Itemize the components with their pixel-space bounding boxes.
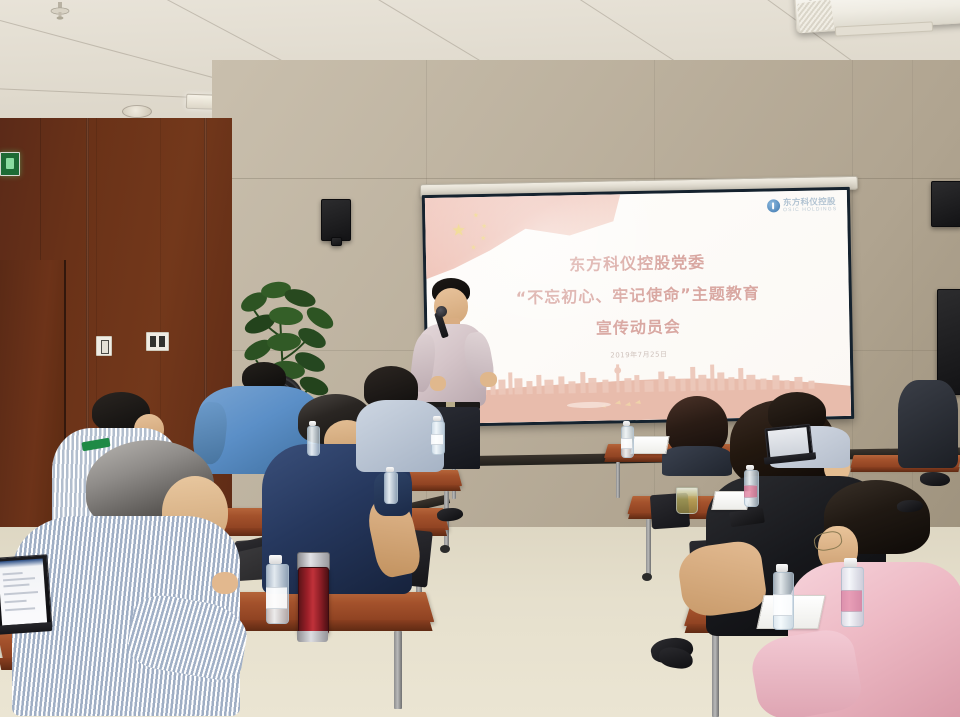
sprinkler-icon [48, 2, 72, 27]
exit-sign-icon [0, 152, 20, 176]
logo-mark-icon [767, 200, 780, 213]
flag-star: ★ [451, 223, 466, 239]
company-logo: 东方科仪控股 OSIC HOLDINGS [767, 198, 837, 213]
conference-room-photo: ★ ★ ★ ★ ★ 东方科仪控股 OSIC HOLDINGS 东方科仪控股党委 … [0, 0, 960, 717]
laptop-display [0, 559, 47, 626]
red-thermos [296, 552, 330, 642]
speaker-bracket [331, 237, 342, 246]
attendee-pink-shirt [810, 480, 960, 717]
microphone-head [436, 306, 447, 317]
tea-glass [676, 487, 698, 514]
wall-speaker-right [931, 181, 960, 227]
laptop[interactable] [0, 554, 53, 632]
name-card [630, 436, 669, 454]
outlet[interactable] [146, 332, 169, 351]
logo-text-en: OSIC HOLDINGS [783, 207, 837, 213]
flag-star: ★ [481, 236, 487, 242]
flag-star: ★ [473, 213, 479, 219]
wall-speaker-left [321, 199, 351, 241]
flag-star: ★ [471, 245, 477, 251]
recessed-downlight [122, 105, 152, 118]
attendee-grey-hair [12, 440, 264, 717]
flag-star: ★ [481, 224, 487, 230]
light-switch[interactable] [96, 336, 112, 356]
